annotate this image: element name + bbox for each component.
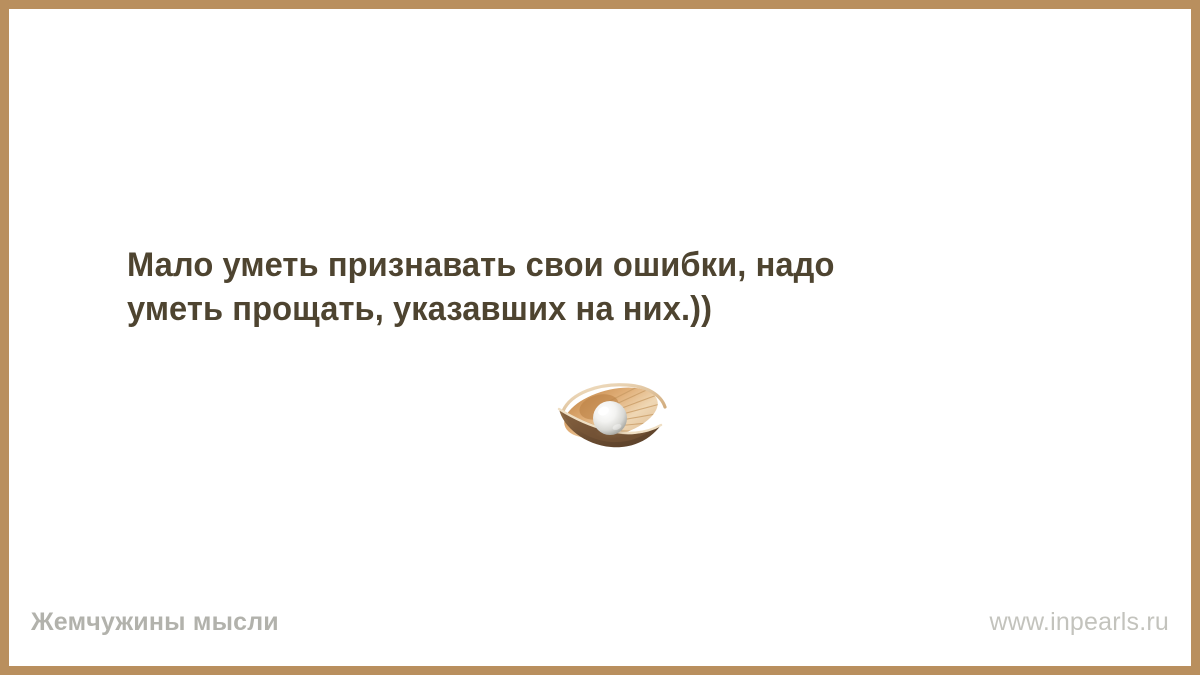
quote-card: Мало уметь признавать свои ошибки, надо … xyxy=(0,0,1200,675)
footer: Жемчужины мысли www.inpearls.ru xyxy=(9,587,1191,657)
shell-with-pearl-icon xyxy=(541,377,677,457)
quote-text: Мало уметь признавать свои ошибки, надо … xyxy=(127,243,905,331)
site-url-link[interactable]: www.inpearls.ru xyxy=(990,610,1169,635)
brand-name: Жемчужины мысли xyxy=(31,610,279,635)
shell-with-pearl-illustration xyxy=(541,377,677,457)
quote-block: Мало уметь признавать свои ошибки, надо … xyxy=(127,243,937,331)
